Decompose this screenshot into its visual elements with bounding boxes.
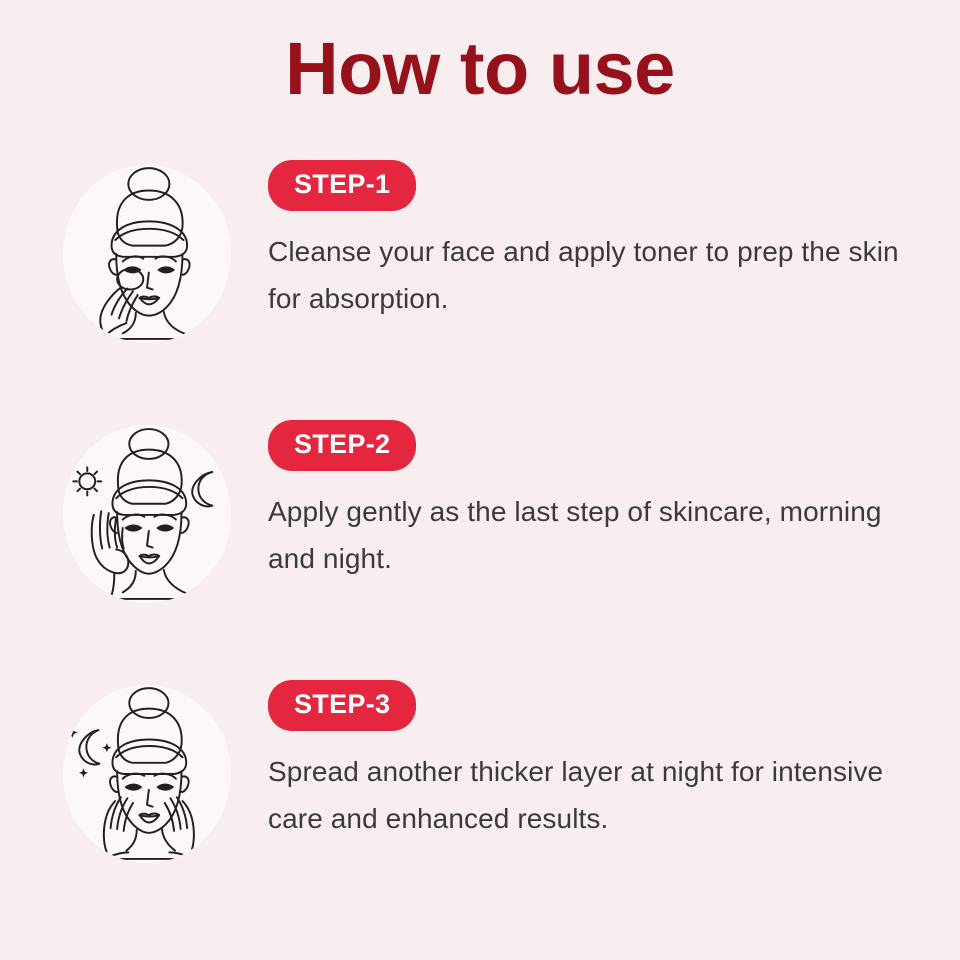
step-row: STEP-3 Spread another thicker layer at n…: [0, 680, 960, 940]
step-description: Apply gently as the last step of skincar…: [268, 488, 928, 582]
step-row: STEP-1 Cleanse your face and apply toner…: [0, 160, 960, 420]
step-content: STEP-2 Apply gently as the last step of …: [268, 420, 940, 582]
steps-list: STEP-1 Cleanse your face and apply toner…: [0, 160, 960, 940]
woman-applying-cream-sun-moon-icon: [63, 425, 231, 603]
how-to-use-panel: How to use: [0, 0, 960, 960]
woman-both-hands-face-night-icon: [63, 685, 231, 863]
status-badge: STEP-1: [268, 160, 416, 211]
step-description: Spread another thicker layer at night fo…: [268, 748, 908, 842]
status-badge: STEP-2: [268, 420, 416, 471]
step-content: STEP-3 Spread another thicker layer at n…: [268, 680, 940, 842]
step-row: STEP-2 Apply gently as the last step of …: [0, 420, 960, 680]
status-badge: STEP-3: [268, 680, 416, 731]
woman-applying-cotton-pad-icon: [63, 165, 231, 343]
step-content: STEP-1 Cleanse your face and apply toner…: [268, 160, 940, 322]
step-description: Cleanse your face and apply toner to pre…: [268, 228, 908, 322]
page-title: How to use: [0, 26, 960, 112]
